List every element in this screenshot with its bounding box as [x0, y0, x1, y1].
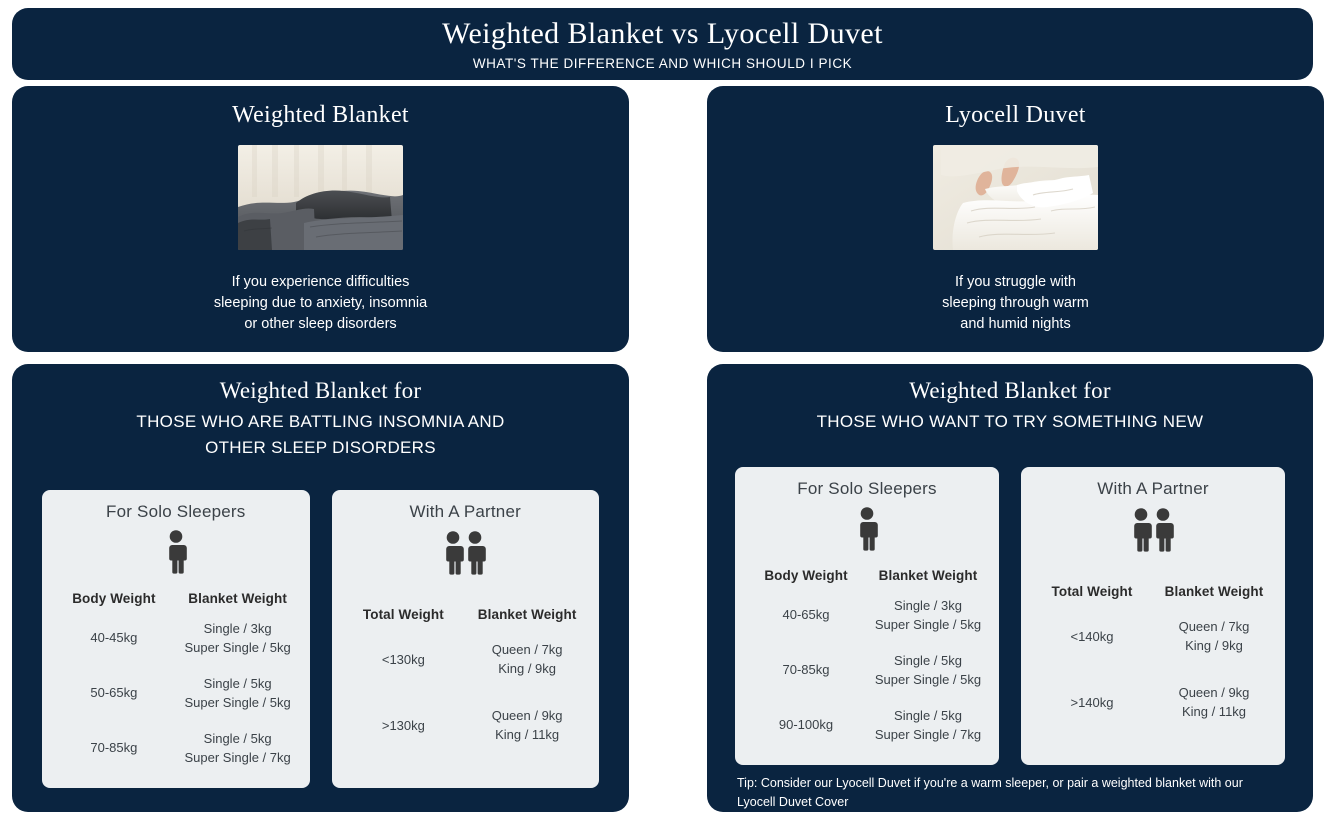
blanket-option: Queen / 7kg: [1154, 617, 1274, 636]
recommendation-subtitle: THOSE WHO ARE BATTLING INSOMNIA AND OTHE…: [112, 409, 528, 461]
table-row: 40-45kg Single / 3kg Super Single / 5kg: [52, 610, 300, 665]
table-row: 70-85kg Single / 5kg Super Single / 7kg: [52, 720, 300, 775]
blanket-option: Single / 5kg: [177, 674, 299, 693]
blanket-option: Queen / 9kg: [466, 706, 588, 725]
column-header: Blanket Weight: [1153, 583, 1275, 603]
blanket-weight-cell: Queen / 9kg King / 11kg: [1153, 669, 1275, 735]
panel-for-solo-sleepers: For Solo Sleepers Body Weight Blanket We…: [42, 490, 310, 788]
desc-line: If you struggle with: [942, 272, 1089, 293]
lyocell-duvet-photo: [933, 145, 1098, 250]
weight-panels: For Solo Sleepers Body Weight Blanket We…: [12, 490, 629, 788]
blanket-weight-cell: Queen / 7kg King / 9kg: [1153, 603, 1275, 669]
blanket-option: Super Single / 7kg: [177, 748, 299, 767]
column-header: Total Weight: [342, 606, 466, 626]
recommendation-title: Weighted Blanket for: [909, 378, 1110, 404]
blanket-option: Single / 5kg: [868, 706, 988, 725]
product-title: Weighted Blanket: [232, 102, 409, 129]
blanket-option: Single / 3kg: [868, 596, 988, 615]
product-card-weighted-blanket: Weighted Blanket: [12, 86, 629, 352]
desc-line: sleeping through warm: [942, 293, 1089, 314]
two-person-icon: [442, 530, 488, 576]
infographic-page: Weighted Blanket vs Lyocell Duvet WHAT'S…: [0, 0, 1325, 820]
desc-line: or other sleep disorders: [214, 314, 427, 335]
blanket-option: Single / 5kg: [177, 729, 299, 748]
table-header-row: Total Weight Blanket Weight: [342, 606, 590, 626]
blanket-option: King / 9kg: [466, 659, 588, 678]
table-row: 70-85kg Single / 5kg Super Single / 5kg: [745, 642, 989, 697]
recommendation-title: Weighted Blanket for: [220, 378, 421, 404]
column-header: Blanket Weight: [465, 606, 589, 626]
single-person-icon: [163, 530, 189, 574]
column-header: Blanket Weight: [867, 567, 989, 587]
blanket-option: King / 11kg: [1154, 702, 1274, 721]
body-weight-cell: 90-100kg: [745, 697, 867, 752]
blanket-option: Super Single / 7kg: [868, 725, 988, 744]
weighted-blanket-photo: [238, 145, 403, 250]
blanket-option: Single / 5kg: [868, 651, 988, 670]
blanket-weight-cell: Single / 3kg Super Single / 5kg: [867, 587, 989, 642]
blanket-weight-cell: Single / 5kg Super Single / 5kg: [176, 665, 300, 720]
blanket-option: Queen / 9kg: [1154, 683, 1274, 702]
product-description: If you struggle with sleeping through wa…: [942, 272, 1089, 335]
product-card-lyocell-duvet: Lyocell Duvet: [707, 86, 1324, 352]
page-subtitle: WHAT'S THE DIFFERENCE AND WHICH SHOULD I…: [473, 56, 852, 71]
subtitle-line: THOSE WHO ARE BATTLING INSOMNIA AND: [136, 409, 504, 435]
blanket-weight-cell: Single / 5kg Super Single / 7kg: [176, 720, 300, 775]
blanket-option: King / 11kg: [466, 725, 588, 744]
total-weight-cell: <130kg: [342, 626, 466, 692]
table-header-row: Body Weight Blanket Weight: [52, 590, 300, 610]
blanket-option: Super Single / 5kg: [177, 638, 299, 657]
tip-note: Tip: Consider our Lyocell Duvet if you'r…: [707, 774, 1313, 812]
blanket-option: King / 9kg: [1154, 636, 1274, 655]
column-header: Blanket Weight: [176, 590, 300, 610]
desc-line: If you experience difficulties: [214, 272, 427, 293]
panel-with-a-partner: With A Partner Total Weight: [332, 490, 600, 788]
blanket-weight-cell: Single / 3kg Super Single / 5kg: [176, 610, 300, 665]
product-description: If you experience difficulties sleeping …: [214, 272, 427, 335]
panel-title: With A Partner: [410, 502, 521, 522]
total-weight-cell: >130kg: [342, 692, 466, 758]
desc-line: and humid nights: [942, 314, 1089, 335]
recommendation-subtitle: THOSE WHO WANT TO TRY SOMETHING NEW: [793, 409, 1228, 435]
blanket-option: Super Single / 5kg: [868, 670, 988, 689]
blanket-option: Queen / 7kg: [466, 640, 588, 659]
subtitle-line: THOSE WHO WANT TO TRY SOMETHING NEW: [817, 409, 1204, 435]
column-header: Body Weight: [52, 590, 176, 610]
body-weight-cell: 40-45kg: [52, 610, 176, 665]
header-banner: Weighted Blanket vs Lyocell Duvet WHAT'S…: [12, 8, 1313, 80]
subtitle-line: OTHER SLEEP DISORDERS: [136, 435, 504, 461]
table-header-row: Total Weight Blanket Weight: [1031, 583, 1275, 603]
blanket-option: Super Single / 5kg: [177, 693, 299, 712]
body-weight-cell: 70-85kg: [52, 720, 176, 775]
table-row: <140kg Queen / 7kg King / 9kg: [1031, 603, 1275, 669]
body-weight-cell: 70-85kg: [745, 642, 867, 697]
recommendation-card-insomnia: Weighted Blanket for THOSE WHO ARE BATTL…: [12, 364, 629, 812]
blanket-option: Single / 3kg: [177, 619, 299, 638]
panel-title: For Solo Sleepers: [106, 502, 245, 522]
weight-panels: For Solo Sleepers Body Weight Blanket We…: [707, 467, 1313, 765]
blanket-option: Super Single / 5kg: [868, 615, 988, 634]
total-weight-cell: <140kg: [1031, 603, 1153, 669]
table-row: >140kg Queen / 9kg King / 11kg: [1031, 669, 1275, 735]
weight-table: Body Weight Blanket Weight 40-65kg Singl…: [745, 567, 989, 752]
panel-with-a-partner: With A Partner Total Weight: [1021, 467, 1285, 765]
column-header: Body Weight: [745, 567, 867, 587]
table-row: 40-65kg Single / 3kg Super Single / 5kg: [745, 587, 989, 642]
body-weight-cell: 50-65kg: [52, 665, 176, 720]
body-weight-cell: 40-65kg: [745, 587, 867, 642]
product-title: Lyocell Duvet: [945, 102, 1086, 129]
total-weight-cell: >140kg: [1031, 669, 1153, 735]
recommendation-card-something-new: Weighted Blanket for THOSE WHO WANT TO T…: [707, 364, 1313, 812]
two-person-icon: [1130, 507, 1176, 553]
panel-title: For Solo Sleepers: [797, 479, 936, 499]
desc-line: sleeping due to anxiety, insomnia: [214, 293, 427, 314]
column-header: Total Weight: [1031, 583, 1153, 603]
blanket-weight-cell: Queen / 9kg King / 11kg: [465, 692, 589, 758]
table-row: 50-65kg Single / 5kg Super Single / 5kg: [52, 665, 300, 720]
blanket-weight-cell: Queen / 7kg King / 9kg: [465, 626, 589, 692]
single-person-icon: [854, 507, 880, 551]
blanket-weight-cell: Single / 5kg Super Single / 7kg: [867, 697, 989, 752]
table-row: >130kg Queen / 9kg King / 11kg: [342, 692, 590, 758]
weight-table: Total Weight Blanket Weight <140kg Queen…: [1031, 583, 1275, 735]
page-title: Weighted Blanket vs Lyocell Duvet: [442, 17, 883, 50]
table-header-row: Body Weight Blanket Weight: [745, 567, 989, 587]
panel-title: With A Partner: [1097, 479, 1208, 499]
table-row: 90-100kg Single / 5kg Super Single / 7kg: [745, 697, 989, 752]
blanket-weight-cell: Single / 5kg Super Single / 5kg: [867, 642, 989, 697]
table-row: <130kg Queen / 7kg King / 9kg: [342, 626, 590, 692]
panel-for-solo-sleepers: For Solo Sleepers Body Weight Blanket We…: [735, 467, 999, 765]
weight-table: Total Weight Blanket Weight <130kg Queen…: [342, 606, 590, 758]
weight-table: Body Weight Blanket Weight 40-45kg Singl…: [52, 590, 300, 775]
